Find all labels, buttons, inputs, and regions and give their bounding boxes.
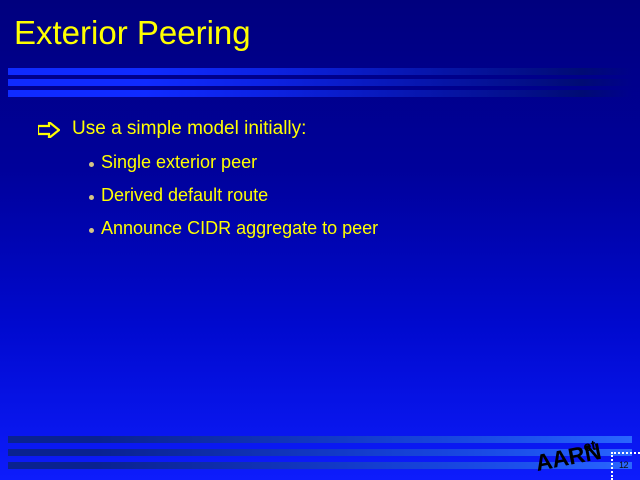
bullet-level2-label: Single exterior peer [101, 150, 257, 175]
round-dot-icon [89, 195, 94, 200]
top-bar-2 [8, 79, 632, 86]
slide-canvas: Exterior Peering Use a simple model init… [0, 0, 640, 480]
page-number: 12 [619, 460, 628, 470]
top-bar-3 [8, 90, 632, 97]
top-bar-1 [8, 68, 632, 75]
slide-body: Use a simple model initially: Single ext… [0, 116, 640, 249]
footer-placeholder-box: 12 [611, 452, 640, 480]
bullet-level2-label: Announce CIDR aggregate to peer [101, 216, 378, 241]
bullet-level2-item: Derived default route [0, 183, 640, 216]
bullet-level1-label: Use a simple model initially: [72, 116, 306, 142]
bullet-level1: Use a simple model initially: [0, 116, 640, 150]
round-dot-icon [89, 162, 94, 167]
round-dot-icon [89, 228, 94, 233]
hollow-right-arrow-icon [38, 122, 60, 138]
slide-title: Exterior Peering [14, 13, 251, 53]
aarnet-logo: AARN et [533, 428, 613, 473]
bullet-level2-item: Single exterior peer [0, 150, 640, 183]
bullet-level2-label: Derived default route [101, 183, 268, 208]
bullet-level2-item: Announce CIDR aggregate to peer [0, 216, 640, 249]
top-decoration-bars [8, 68, 632, 97]
